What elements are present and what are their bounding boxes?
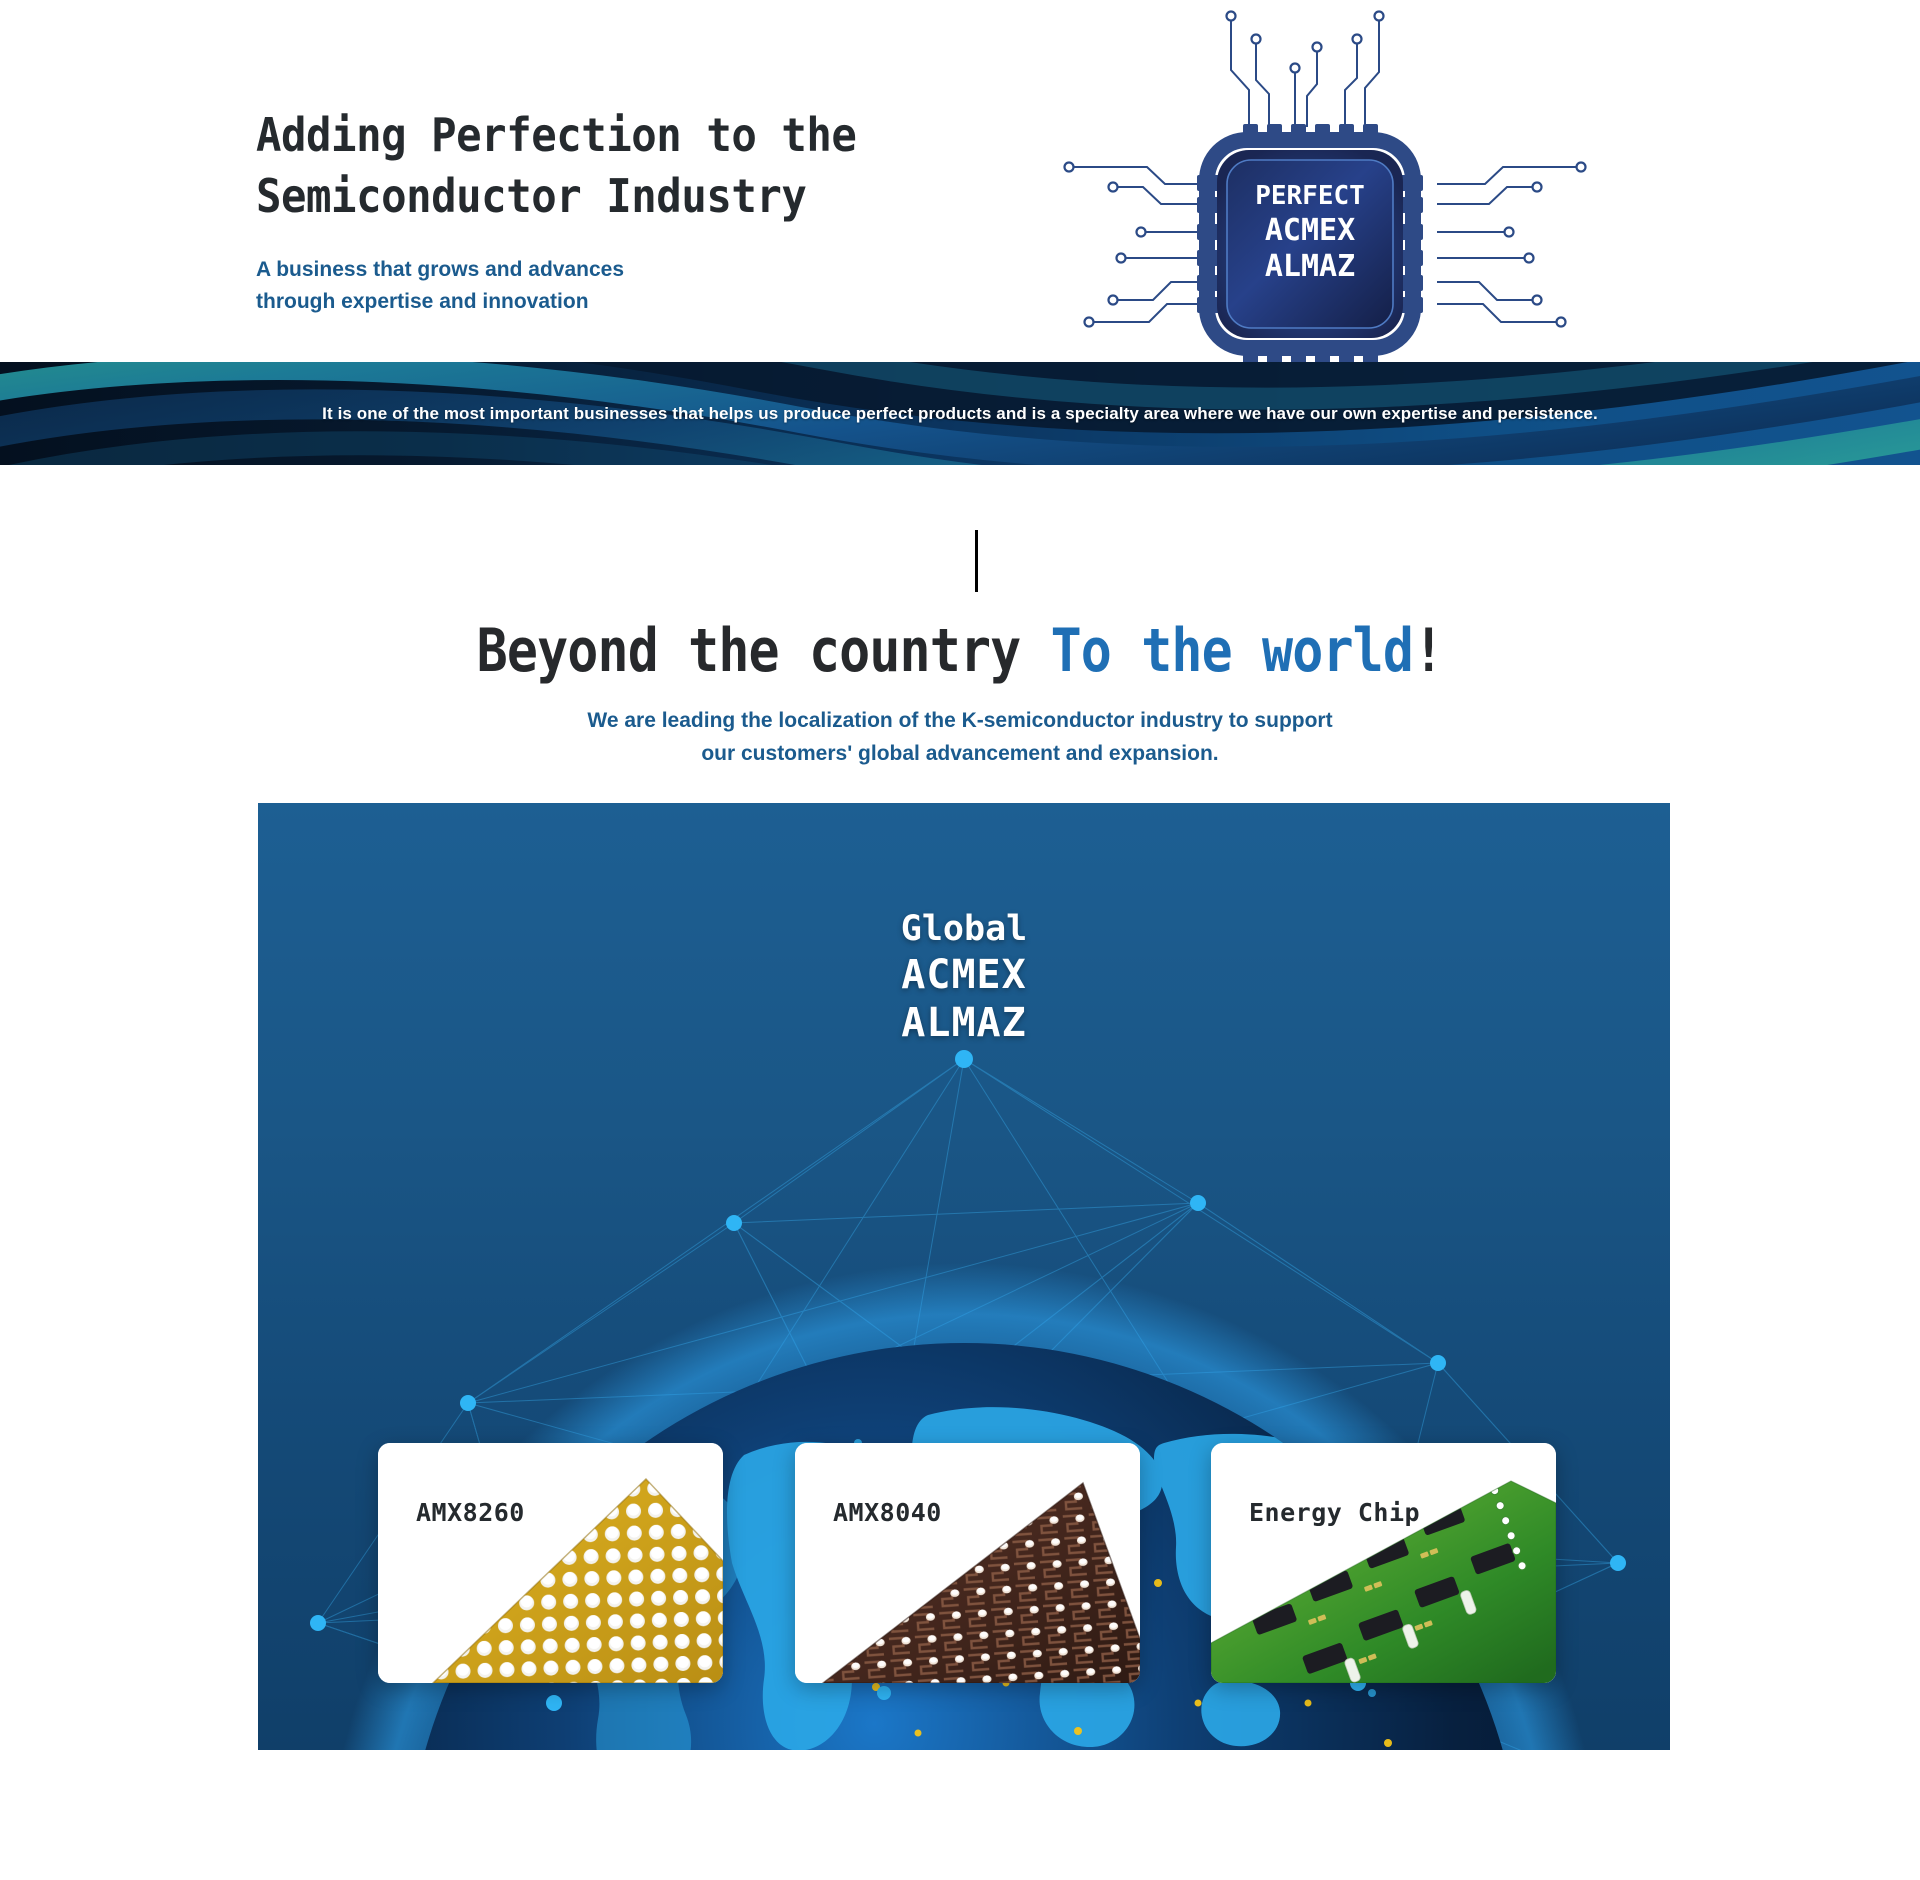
chip-graphic: PERFECT ACMEX ALMAZ	[1045, 0, 1605, 367]
page-title: Adding Perfection to the Semiconductor I…	[256, 105, 955, 226]
green-pcb-image	[1211, 1443, 1556, 1683]
banner-tagline: It is one of the most important business…	[322, 404, 1598, 424]
section-title-main: Beyond the country	[477, 616, 1051, 686]
headline-block: Adding Perfection to the Semiconductor I…	[256, 105, 1016, 317]
brown-substrate-image	[795, 1443, 1140, 1683]
hero-panel: Global ACMEX ALMAZ	[258, 803, 1670, 1750]
banner-text-wrap: It is one of the most important business…	[0, 362, 1920, 465]
tagline-banner: It is one of the most important business…	[0, 362, 1920, 465]
page-root: Adding Perfection to the Semiconductor I…	[0, 0, 1920, 1880]
chip-illustration-svg: PERFECT ACMEX ALMAZ	[1045, 0, 1605, 367]
page-footer-space	[0, 1750, 1920, 1880]
section-title-accent: To the world	[1051, 616, 1413, 686]
product-card-list: AMX8260	[258, 803, 1670, 1750]
section-subcopy: We are leading the localization of the K…	[0, 705, 1920, 770]
product-card-energy-chip[interactable]: Energy Chip	[1211, 1443, 1556, 1683]
section-divider	[975, 530, 978, 592]
chip-logo-line2: ACMEX	[1265, 213, 1355, 248]
product-card-title: Energy Chip	[1249, 1498, 1420, 1527]
gold-bga-image	[378, 1443, 723, 1683]
product-card-title: AMX8260	[416, 1498, 525, 1527]
section-title-bang: !	[1413, 616, 1443, 686]
chip-logo-line3: ALMAZ	[1265, 249, 1355, 284]
product-card-amx8260[interactable]: AMX8260	[378, 1443, 723, 1683]
product-card-amx8040[interactable]: AMX8040	[795, 1443, 1140, 1683]
chip-logo-line1: PERFECT	[1255, 181, 1365, 211]
page-subtitle: A business that grows and advances throu…	[256, 254, 1016, 317]
product-card-title: AMX8040	[833, 1498, 942, 1527]
top-header: Adding Perfection to the Semiconductor I…	[0, 0, 1920, 362]
section-title: Beyond the country To the world!	[0, 620, 1920, 684]
